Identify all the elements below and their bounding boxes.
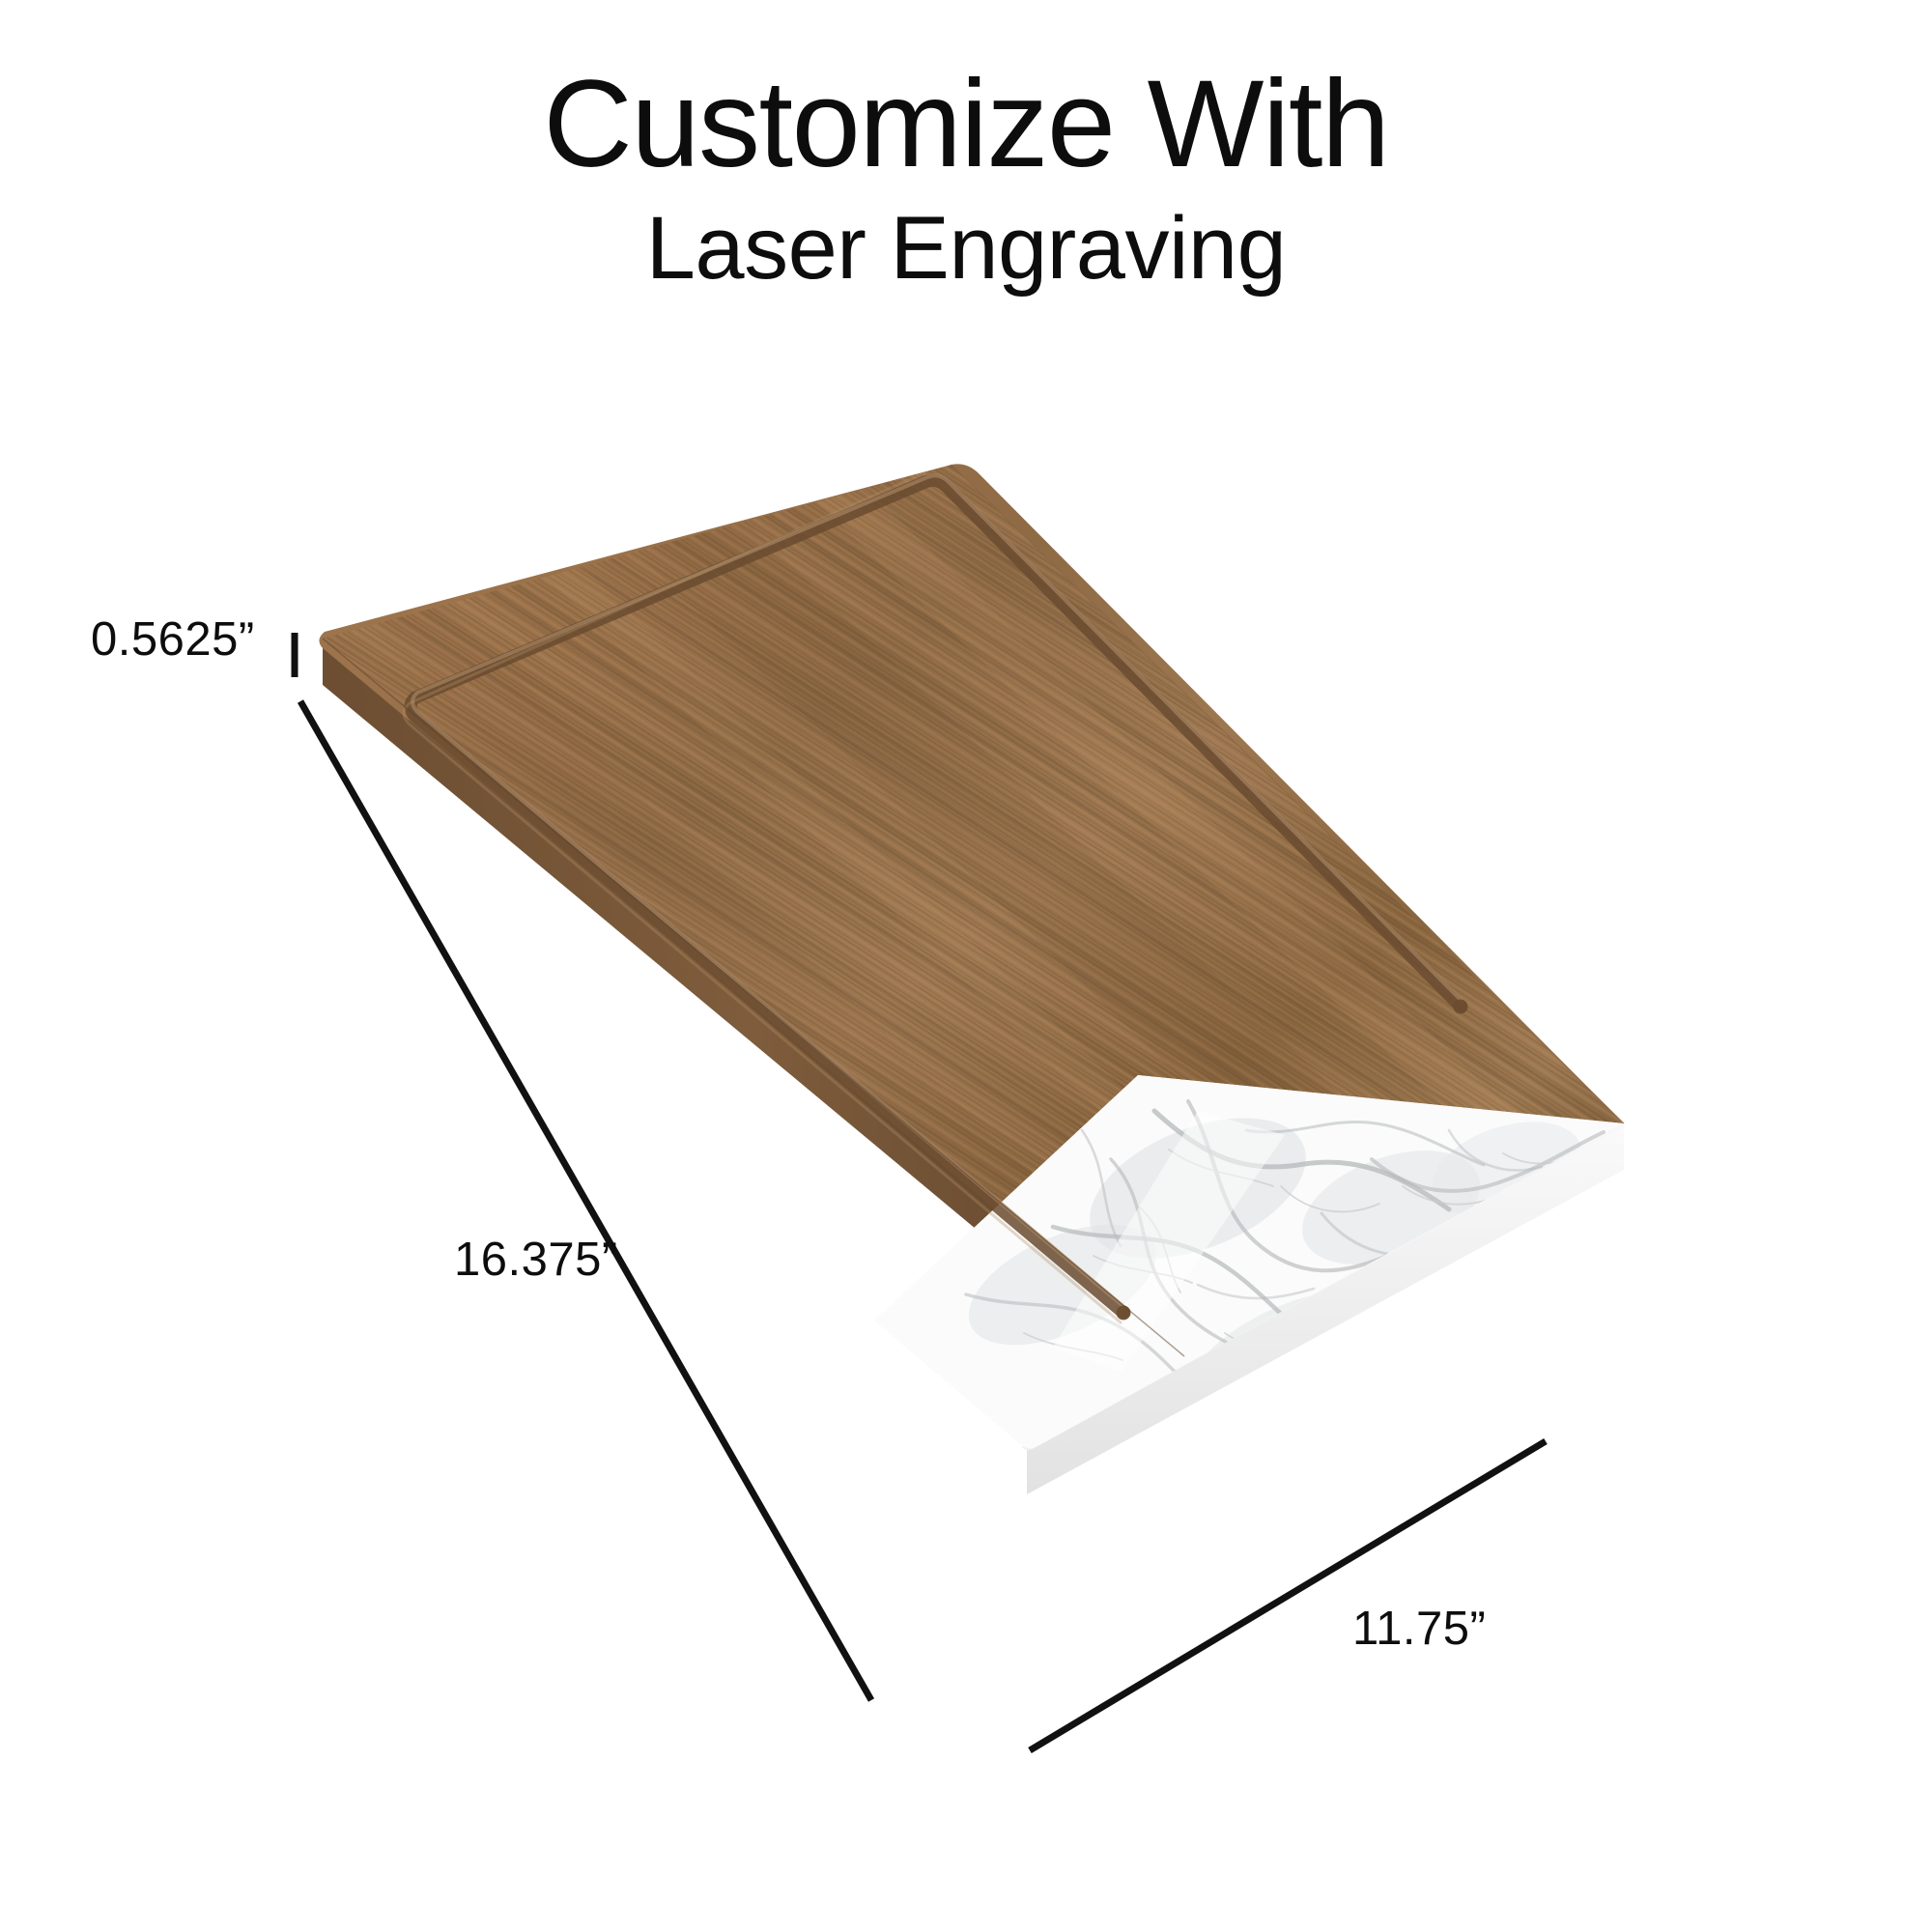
width-dimension-label: 11.75” [1352, 1602, 1486, 1656]
product-dimension-graphic: Customize With Laser Engraving [0, 0, 1932, 1932]
width-dimension-line [1030, 1441, 1546, 1750]
thickness-dimension-label: 0.5625” [91, 612, 255, 667]
cutting-board-illustration [0, 0, 1932, 1932]
length-dimension-label: 16.375” [454, 1233, 618, 1287]
